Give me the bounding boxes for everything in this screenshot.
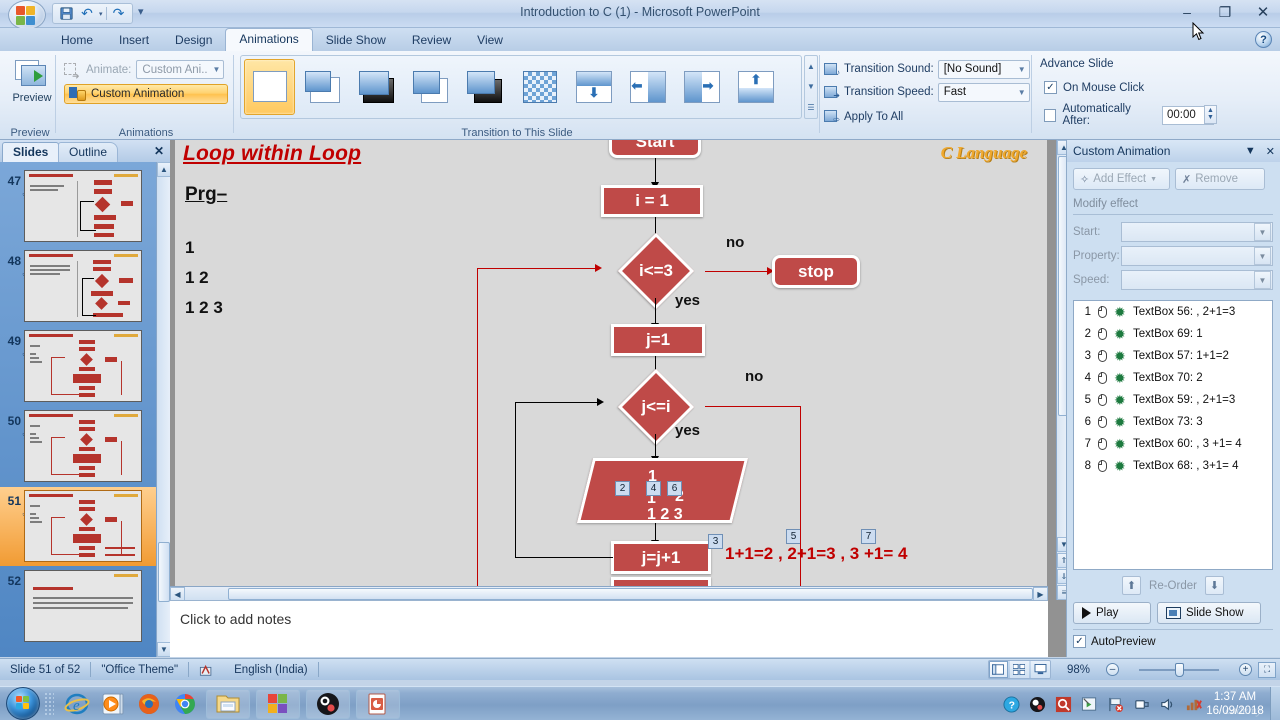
transition-wipe-up[interactable]: ⬆ — [730, 59, 781, 115]
slide-editor: Loop within Loop Prg– 1 1 2 1 2 3 C Lang… — [170, 140, 1070, 657]
slide-prg-label[interactable]: Prg– — [185, 184, 227, 206]
slide-title[interactable]: Loop within Loop — [183, 142, 361, 166]
flag-tray-icon[interactable] — [1107, 696, 1124, 713]
tab-insert[interactable]: Insert — [106, 30, 162, 51]
transition-speed-row: ➜ Transition Speed: Fast ▼ — [824, 82, 1030, 102]
property-field-row: Property: ▼ — [1073, 246, 1273, 266]
slide-number: 47 — [0, 170, 24, 188]
snip-tray-icon[interactable] — [1081, 696, 1098, 713]
arrow-outer-loop-vertical — [477, 268, 478, 600]
reorder-up-button[interactable]: ⬆ — [1122, 576, 1141, 595]
microsoft-office-icon[interactable] — [256, 689, 300, 719]
apply-to-all-label: Apply To All — [844, 111, 903, 123]
editor-horizontal-scrollbar[interactable]: ◀ ▶ — [170, 586, 1048, 600]
start-button[interactable] — [6, 687, 40, 720]
slide-number: 48 — [0, 250, 24, 268]
powerpoint-window: ↶ ▾ ↷ ▾ Introduction to C (1) - Microsof… — [0, 0, 1280, 720]
autopreview-label: AutoPreview — [1091, 636, 1156, 648]
ribbon-tab-bar: Home Insert Design Animations Slide Show… — [0, 28, 1280, 51]
animate-icon: ➜ — [64, 62, 81, 78]
list-item[interactable]: 5 ✹ TextBox 59: , 2+1=3 — [1074, 389, 1272, 411]
slide-preview — [24, 330, 142, 402]
property-dropdown[interactable]: ▼ — [1121, 246, 1273, 266]
slides-panel: Slides Outline ✕ 47 ✩ — [0, 140, 170, 657]
advance-slide-title: Advance Slide — [1040, 58, 1114, 70]
preview-button[interactable]: Preview — [10, 55, 54, 117]
transition-sound-row: ♪ Transition Sound: [No Sound] ▼ — [824, 59, 1030, 79]
internet-explorer-icon[interactable]: e — [62, 689, 92, 719]
transition-gallery[interactable]: ⬇ ⬅ ➡ — [240, 55, 802, 119]
editor-scroll-left-icon[interactable]: ◀ — [170, 587, 185, 601]
effect-label: TextBox 68: , 3+1= 4 — [1133, 460, 1239, 472]
obs-tray-icon[interactable] — [1029, 696, 1046, 713]
slide-thumbnail-52[interactable]: 52 — [0, 567, 156, 646]
property-label: Property: — [1073, 250, 1121, 262]
transition-sound-label: Transition Sound: — [844, 63, 934, 75]
print-value-bottom: 1 2 3 — [647, 506, 683, 524]
mouse-click-icon — [1096, 393, 1109, 407]
node-stop[interactable]: stop — [772, 255, 860, 288]
effect-label: TextBox 60: , 3 +1= 4 — [1133, 438, 1242, 450]
show-desktop-button[interactable] — [1270, 687, 1280, 720]
gallery-scrollbar[interactable]: ▲ ▼ ☰ — [804, 55, 818, 119]
autopreview-divider — [1073, 629, 1273, 630]
slide-show-icon — [1166, 607, 1181, 619]
on-mouse-click-label: On Mouse Click — [1063, 82, 1144, 94]
transition-wipe-down[interactable]: ⬇ — [568, 59, 619, 115]
automatically-after-checkbox[interactable] — [1044, 109, 1056, 122]
brand-watermark: C Language — [941, 143, 1027, 163]
group-label-transition: Transition to This Slide — [236, 127, 798, 139]
windows-media-player-icon[interactable] — [98, 689, 128, 719]
effect-order-number: 2 — [1080, 328, 1091, 340]
scroll-up-icon[interactable]: ▲ — [157, 162, 171, 177]
notes-pane[interactable]: Click to add notes — [170, 600, 1048, 657]
effect-order-number: 3 — [1080, 350, 1091, 362]
node-start[interactable]: Start — [609, 140, 701, 158]
chevron-down-icon: ▼ — [1254, 247, 1271, 265]
ribbon-group-transitions: ⬇ ⬅ ➡ — [236, 51, 820, 140]
slide-thumbnail-48[interactable]: 48 ✩ — [0, 247, 156, 326]
emphasis-star-icon: ✹ — [1114, 305, 1128, 319]
arrow-cond-i-to-stop — [705, 271, 769, 272]
close-button[interactable]: ✕ — [1250, 2, 1276, 22]
advance-time-spinner[interactable]: ▲ ▼ — [1204, 105, 1217, 124]
autopreview-row[interactable]: ✓ AutoPreview — [1073, 635, 1156, 648]
tab-home[interactable]: Home — [48, 30, 106, 51]
output-line-3[interactable]: 1 2 3 — [185, 298, 223, 318]
chevron-down-icon: ▼ — [1018, 88, 1026, 97]
arrowhead-right-icon — [595, 264, 602, 272]
emphasis-star-icon: ✹ — [1114, 393, 1128, 407]
system-tray: ? — [1003, 687, 1202, 720]
slide-preview — [24, 250, 142, 322]
speed-icon: ➜ — [824, 85, 840, 100]
slide-thumbnail-51[interactable]: 51 ✩ — [0, 487, 156, 566]
play-button[interactable]: Play — [1073, 602, 1151, 624]
animate-dropdown[interactable]: Custom Ani... ▼ — [136, 60, 224, 79]
mouse-click-icon — [1096, 305, 1109, 319]
node-cond-i[interactable]: i<=3 — [608, 244, 704, 298]
reorder-controls: ⬆ Re-Order ⬇ — [1073, 576, 1273, 595]
arrow-cond-i-to-j — [655, 298, 656, 325]
window-title: Introduction to C (1) - Microsoft PowerP… — [0, 5, 1280, 19]
list-item[interactable]: 8 ✹ TextBox 68: , 3+1= 4 — [1074, 455, 1272, 477]
slide-thumbnail-list[interactable]: 47 ✩ — [0, 162, 156, 657]
taskbar-grip[interactable] — [44, 692, 54, 716]
gallery-scroll-up-icon[interactable]: ▲ — [807, 62, 815, 71]
slides-panel-scrollbar[interactable]: ▲ ▼ — [156, 162, 170, 657]
list-item[interactable]: 7 ✹ TextBox 60: , 3 +1= 4 — [1074, 433, 1272, 455]
slide-sorter-icon[interactable] — [1010, 661, 1029, 678]
mouse-click-icon — [1096, 415, 1109, 429]
speed-field-row: Speed: ▼ — [1073, 270, 1273, 290]
normal-view-icon[interactable] — [989, 661, 1008, 678]
zoom-in-button[interactable]: + — [1239, 663, 1252, 676]
animate-label: Animate: — [86, 64, 131, 76]
transition-cut[interactable] — [298, 59, 349, 115]
svg-text:e: e — [73, 698, 80, 714]
custom-animation-icon — [69, 86, 86, 102]
zoom-out-button[interactable]: – — [1106, 663, 1119, 676]
automatically-after-label: Automatically After: — [1062, 103, 1156, 127]
group-label-preview: Preview — [4, 127, 56, 139]
status-bar-right: 98% – + ⛶ — [988, 660, 1276, 679]
transition-speed-value: Fast — [944, 86, 966, 98]
effect-label: TextBox 69: 1 — [1133, 328, 1203, 340]
windows-taskbar: e ? — [0, 686, 1280, 720]
taskbar-app-icons: e — [62, 689, 400, 719]
reorder-down-button[interactable]: ⬇ — [1205, 576, 1224, 595]
node-cond-i-label: i<=3 — [608, 244, 704, 298]
chevron-down-icon: ▼ — [1018, 65, 1026, 74]
help-icon[interactable]: ? — [1255, 31, 1272, 48]
remove-effect-button[interactable]: ✗ Remove — [1175, 168, 1265, 190]
emphasis-star-icon: ✹ — [1114, 459, 1128, 473]
zoom-slider-handle[interactable] — [1175, 663, 1184, 677]
slide-number: 52 — [0, 570, 24, 588]
scroll-down-icon[interactable]: ▼ — [157, 642, 171, 657]
label-yes-i: yes — [675, 292, 700, 309]
add-effect-button[interactable]: ✧ Add Effect ▼ — [1073, 168, 1170, 190]
mouse-click-icon — [1096, 459, 1109, 473]
transition-wipe-right[interactable]: ➡ — [676, 59, 727, 115]
anim-badge-2[interactable]: 2 — [615, 481, 630, 496]
emphasis-star-icon: ✹ — [1114, 437, 1128, 451]
list-item[interactable]: 4 ✹ TextBox 70: 2 — [1074, 367, 1272, 389]
arrow-condj-no-right — [705, 406, 801, 407]
ribbon-group-transition-options: ♪ Transition Sound: [No Sound] ▼ ➜ Trans… — [820, 51, 1032, 140]
tab-outline[interactable]: Outline — [58, 142, 118, 162]
start-label: Start: — [1073, 226, 1121, 238]
task-pane-title: Custom Animation — [1073, 144, 1170, 158]
transition-dissolve[interactable] — [514, 59, 565, 115]
mouse-cursor — [1192, 22, 1205, 42]
list-item[interactable]: 6 ✹ TextBox 73: 3 — [1074, 411, 1272, 433]
arrow-inner-loop-bottom — [515, 557, 613, 558]
recording-watermark: cademy — [1225, 703, 1262, 718]
arrow-inner-loop-vertical — [515, 402, 516, 558]
volume-tray-icon[interactable] — [1159, 696, 1176, 713]
effect-label: TextBox 73: 3 — [1133, 416, 1203, 428]
transition-sound-dropdown[interactable]: [No Sound] ▼ — [938, 60, 1030, 79]
chevron-down-icon: ▼ — [212, 65, 220, 74]
slide-preview — [24, 570, 142, 642]
list-item[interactable]: 3 ✹ TextBox 57: 1+1=2 — [1074, 345, 1272, 367]
svg-text:?: ? — [1009, 700, 1015, 711]
spellcheck-icon[interactable] — [189, 662, 224, 678]
chevron-down-icon: ▼ — [1254, 223, 1271, 241]
group-label-animations: Animations — [58, 127, 234, 139]
custom-animation-label: Custom Animation — [91, 88, 184, 100]
task-pane-header: Custom Animation ▼ ✕ — [1067, 140, 1280, 162]
slide-thumbnail-47[interactable]: 47 ✩ — [0, 167, 156, 246]
preview-icon — [15, 58, 49, 90]
task-pane-header-buttons: ▼ ✕ — [1245, 145, 1275, 158]
slide-number: 49 — [0, 330, 24, 348]
language-indicator[interactable]: English (India) — [224, 662, 318, 678]
anim-badge-7[interactable]: 7 — [861, 529, 876, 544]
equation-text[interactable]: 1+1=2 , 2+1=3 , 3 +1= 4 — [725, 544, 907, 564]
tab-design[interactable]: Design — [162, 30, 225, 51]
output-line-2[interactable]: 1 2 — [185, 268, 209, 288]
anim-badge-3[interactable]: 3 — [708, 534, 723, 549]
sound-icon: ♪ — [824, 62, 840, 77]
node-i-init[interactable]: i = 1 — [601, 185, 703, 217]
preview-button-label: Preview — [12, 92, 51, 104]
effect-order-number: 1 — [1080, 306, 1091, 318]
ribbon-group-preview: Preview Preview — [4, 51, 56, 140]
anim-badge-4[interactable]: 4 — [646, 481, 661, 496]
zoom-percent[interactable]: 98% — [1057, 662, 1100, 678]
speed-label: Speed: — [1073, 274, 1121, 286]
transition-cut-black[interactable] — [352, 59, 403, 115]
animate-dropdown-value: Custom Ani... — [142, 64, 208, 76]
transition-speed-dropdown[interactable]: Fast ▼ — [938, 83, 1030, 102]
slide-preview — [24, 490, 142, 562]
effect-order-number: 8 — [1080, 460, 1091, 472]
transition-fade-black[interactable] — [460, 59, 511, 115]
modify-effect-divider — [1073, 214, 1273, 215]
close-panel-icon[interactable]: ✕ — [154, 144, 164, 158]
scrollbar-thumb[interactable] — [158, 542, 170, 602]
apply-to-all-button[interactable]: ⇨ Apply To All — [824, 109, 903, 124]
obs-studio-icon[interactable] — [306, 689, 350, 719]
remove-label: Remove — [1195, 173, 1238, 185]
firefox-icon[interactable] — [134, 689, 164, 719]
custom-animation-button[interactable]: Custom Animation — [64, 84, 228, 104]
arrow-inner-loop-top — [515, 402, 601, 403]
editor-scroll-right-icon[interactable]: ▶ — [1033, 587, 1048, 601]
slide-number: 50 — [0, 410, 24, 428]
ribbon: Preview Preview ➜ Animate: Custom Ani...… — [0, 51, 1280, 140]
zoom-slider[interactable] — [1125, 663, 1233, 677]
arrow-start-to-i — [655, 158, 656, 184]
search-tray-icon[interactable] — [1055, 696, 1072, 713]
automatically-after-row[interactable]: Automatically After: 00:00 ▲ ▼ — [1044, 103, 1214, 127]
slide-thumbnail-50[interactable]: 50 ✩ — [0, 407, 156, 486]
slides-panel-tabs: Slides Outline ✕ — [0, 140, 170, 162]
emphasis-star-icon: ✹ — [1114, 371, 1128, 385]
task-pane-actions: Play Slide Show — [1073, 602, 1261, 624]
tab-slide-show[interactable]: Slide Show — [313, 30, 399, 51]
arrowhead-right-icon — [597, 398, 604, 406]
status-bar: Slide 51 of 52 "Office Theme" English (I… — [0, 658, 1280, 680]
editor-hscroll-thumb[interactable] — [228, 588, 1033, 600]
transition-speed-label: Transition Speed: — [844, 86, 934, 98]
windows-logo-icon — [16, 696, 32, 712]
emphasis-star-icon: ✹ — [1114, 327, 1128, 341]
label-no-j: no — [745, 368, 763, 385]
arrow-outer-loop-top — [477, 268, 599, 269]
custom-animation-pane: Custom Animation ▼ ✕ ✧ Add Effect ▼ ✗ Re… — [1066, 140, 1280, 657]
title-bar: ↶ ▾ ↷ ▾ Introduction to C (1) - Microsof… — [0, 0, 1280, 28]
slide-preview — [24, 170, 142, 242]
animation-effects-list[interactable]: 1 ✹ TextBox 56: , 2+1=3 2 ✹ TextBox 69: … — [1073, 300, 1273, 570]
slide-preview — [24, 410, 142, 482]
mouse-click-icon — [1096, 349, 1109, 363]
slide-number: 51 — [0, 490, 24, 508]
add-effect-label: Add Effect — [1093, 173, 1146, 185]
add-effect-icon: ✧ — [1080, 173, 1089, 186]
reorder-label: Re-Order — [1149, 580, 1197, 592]
effect-label: TextBox 70: 2 — [1133, 372, 1203, 384]
gallery-more-icon[interactable]: ☰ — [807, 103, 814, 112]
powerpoint-icon[interactable] — [356, 689, 400, 719]
anim-badge-5[interactable]: 5 — [786, 529, 801, 544]
minimize-button[interactable]: – — [1174, 2, 1200, 22]
effect-label: TextBox 56: , 2+1=3 — [1133, 306, 1235, 318]
slide-counter: Slide 51 of 52 — [0, 662, 90, 678]
task-pane-dropdown-icon[interactable]: ▼ — [1245, 145, 1256, 157]
chrome-icon[interactable] — [170, 689, 200, 719]
network-tray-icon[interactable] — [1133, 696, 1150, 713]
notes-placeholder: Click to add notes — [180, 611, 291, 627]
task-pane-buttons: ✧ Add Effect ▼ ✗ Remove — [1073, 168, 1265, 190]
start-field-row: Start: ▼ — [1073, 222, 1273, 242]
effect-order-number: 6 — [1080, 416, 1091, 428]
tab-slides[interactable]: Slides — [2, 142, 59, 162]
arrow-condj-to-print — [655, 434, 656, 458]
emphasis-star-icon: ✹ — [1114, 415, 1128, 429]
list-item[interactable]: 1 ✹ TextBox 56: , 2+1=3 — [1074, 301, 1272, 323]
label-no-i: no — [726, 234, 744, 251]
theme-name[interactable]: "Office Theme" — [91, 662, 188, 678]
clock-time: 1:37 AM — [1204, 690, 1266, 704]
tab-review[interactable]: Review — [399, 30, 464, 51]
view-buttons — [988, 660, 1051, 679]
label-yes-j: yes — [675, 422, 700, 439]
animate-row: ➜ Animate: Custom Ani... ▼ — [64, 60, 224, 79]
file-explorer-icon[interactable] — [206, 689, 250, 719]
slide-thumbnail-49[interactable]: 49 ✩ — [0, 327, 156, 406]
chevron-down-icon: ▼ — [1150, 176, 1157, 183]
effect-label: TextBox 57: 1+1=2 — [1133, 350, 1229, 362]
play-icon — [1082, 607, 1091, 619]
slide-canvas[interactable]: Loop within Loop Prg– 1 1 2 1 2 3 C Lang… — [175, 140, 1047, 600]
spinner-down-icon[interactable]: ▼ — [1207, 114, 1214, 121]
output-line-1[interactable]: 1 — [185, 238, 194, 258]
on-mouse-click-checkbox[interactable]: ✓ — [1044, 81, 1057, 94]
chevron-down-icon: ▼ — [1254, 271, 1271, 289]
maximize-button[interactable]: ❐ — [1212, 2, 1238, 22]
apply-to-all-icon: ⇨ — [824, 109, 840, 124]
speed-dropdown[interactable]: ▼ — [1121, 270, 1273, 290]
spinner-up-icon[interactable]: ▲ — [1207, 107, 1214, 114]
ribbon-tabs: Home Insert Design Animations Slide Show… — [48, 28, 516, 51]
transition-none[interactable] — [244, 59, 295, 115]
ribbon-group-advance-slide: Advance Slide ✓ On Mouse Click Automatic… — [1034, 51, 1214, 140]
fit-to-window-button[interactable]: ⛶ — [1258, 662, 1276, 678]
task-pane-close-icon[interactable]: ✕ — [1266, 145, 1275, 158]
emphasis-star-icon: ✹ — [1114, 349, 1128, 363]
anim-badge-6[interactable]: 6 — [667, 481, 682, 496]
effect-order-number: 7 — [1080, 438, 1091, 450]
mouse-click-icon — [1096, 437, 1109, 451]
play-label: Play — [1096, 607, 1118, 619]
slide-show-button[interactable]: Slide Show — [1157, 602, 1261, 624]
gallery-scroll-down-icon[interactable]: ▼ — [807, 82, 815, 91]
on-mouse-click-row[interactable]: ✓ On Mouse Click — [1044, 81, 1144, 94]
effect-order-number: 5 — [1080, 394, 1091, 406]
window-controls: – ❐ ✕ — [1174, 2, 1276, 22]
autopreview-checkbox[interactable]: ✓ — [1073, 635, 1086, 648]
remove-icon: ✗ — [1182, 173, 1191, 186]
transition-wipe-left[interactable]: ⬅ — [622, 59, 673, 115]
tab-animations[interactable]: Animations — [225, 28, 312, 51]
effect-order-number: 4 — [1080, 372, 1091, 384]
list-item[interactable]: 2 ✹ TextBox 69: 1 — [1074, 323, 1272, 345]
action-center-icon[interactable]: ? — [1003, 696, 1020, 713]
node-j-init[interactable]: j=1 — [611, 324, 705, 356]
transition-fade[interactable] — [406, 59, 457, 115]
slide-show-label: Slide Show — [1186, 607, 1244, 619]
mouse-click-icon — [1096, 371, 1109, 385]
arrow-condj-no-down — [800, 406, 801, 592]
effect-label: TextBox 59: , 2+1=3 — [1133, 394, 1235, 406]
modify-effect-label: Modify effect — [1073, 198, 1138, 210]
transition-sound-value: [No Sound] — [944, 63, 1002, 75]
ribbon-group-animations: ➜ Animate: Custom Ani... ▼ Custom Animat… — [58, 51, 234, 140]
slide-show-view-icon[interactable] — [1031, 661, 1050, 678]
mouse-click-icon — [1096, 327, 1109, 341]
signal-tray-icon[interactable] — [1185, 696, 1202, 713]
tab-view[interactable]: View — [464, 30, 516, 51]
start-dropdown[interactable]: ▼ — [1121, 222, 1273, 242]
node-j-increment[interactable]: j=j+1 — [611, 541, 711, 574]
